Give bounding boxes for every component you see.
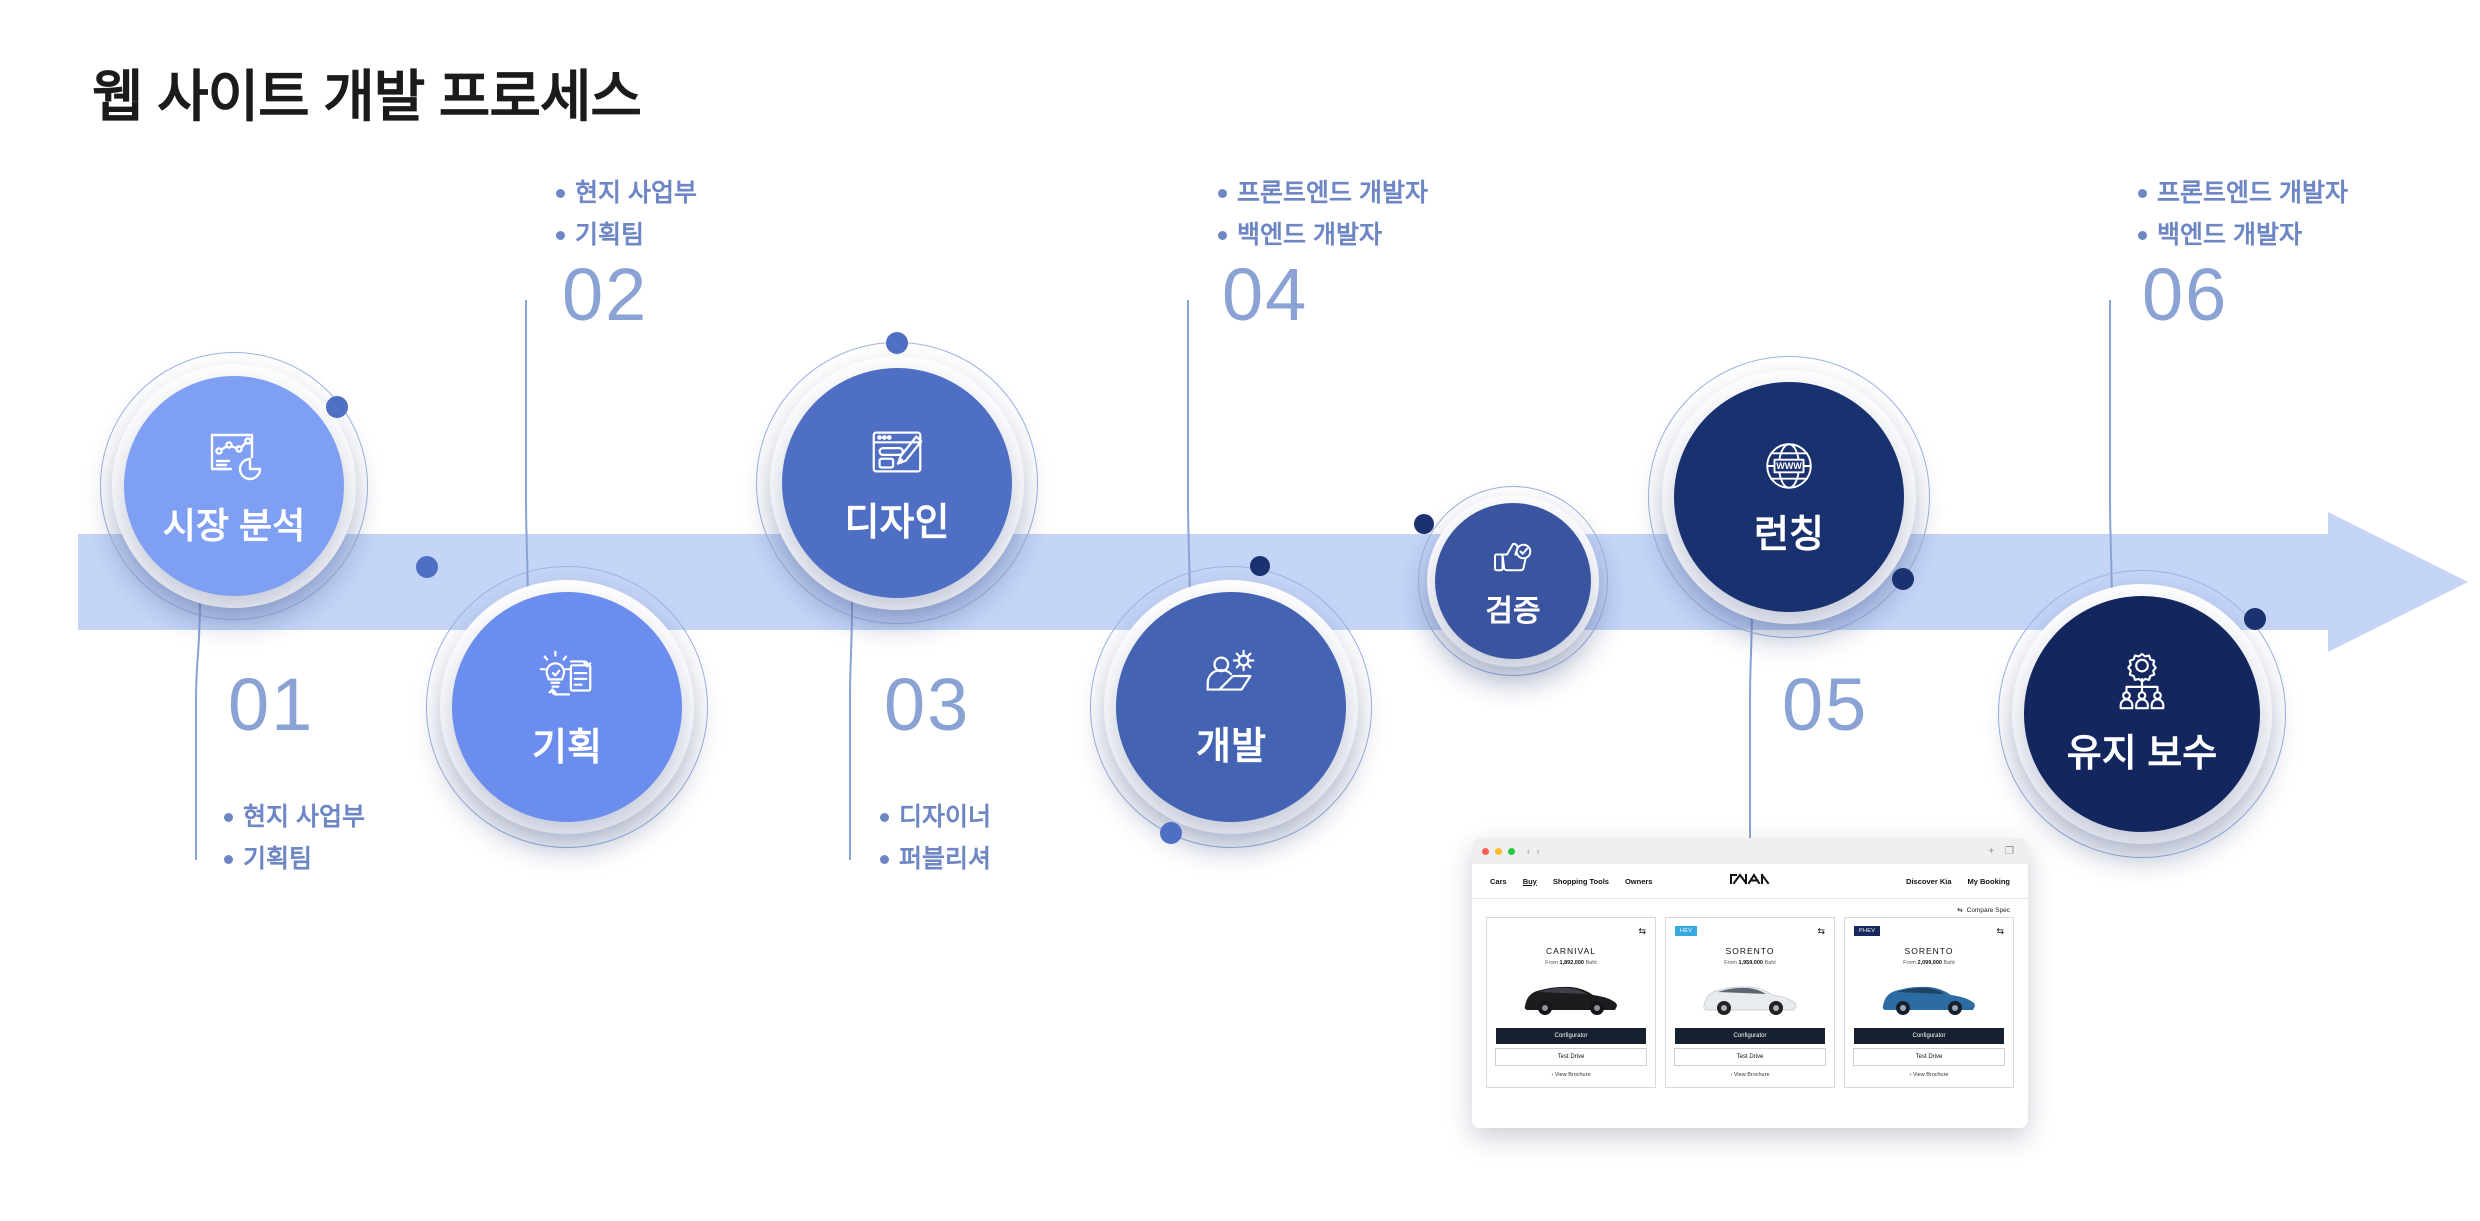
bullet-dot xyxy=(2138,189,2147,198)
step-node-5[interactable]: WWW 런칭 xyxy=(1648,356,1930,638)
nav-link-owners[interactable]: Owners xyxy=(1625,877,1653,886)
step-label-4: 개발 xyxy=(1196,715,1266,770)
step-bullets-1: 현지 사업부 기획팀 xyxy=(224,800,365,876)
step-disc-6[interactable]: 유지 보수 xyxy=(2024,596,2260,832)
minimize-icon[interactable] xyxy=(1495,848,1502,855)
vehicle-card-list: ⇆ CARNIVAL From 1,892,000 Baht Configura… xyxy=(1472,917,2028,1088)
nav-link-discover-kia[interactable]: Discover Kia xyxy=(1906,877,1951,886)
compare-toggle-icon[interactable]: ⇆ xyxy=(1996,926,2004,937)
bullet-item: 퍼블리셔 xyxy=(880,842,991,876)
bullet-text: 현지 사업부 xyxy=(243,800,365,834)
step-number-2: 02 xyxy=(562,258,648,332)
bullet-text: 프론트엔드 개발자 xyxy=(2157,176,2348,210)
vehicle-image xyxy=(1696,972,1804,1021)
configurator-button[interactable]: Configurator xyxy=(1675,1028,1825,1044)
test-drive-button[interactable]: Test Drive xyxy=(1853,1048,2005,1066)
bullet-item: 백엔드 개발자 xyxy=(2138,218,2348,252)
step-disc-4[interactable]: 개발 xyxy=(1116,592,1346,822)
bullet-dot xyxy=(224,813,233,822)
nav-link-shopping-tools[interactable]: Shopping Tools xyxy=(1553,877,1609,886)
step-node-3[interactable]: 디자인 xyxy=(756,342,1038,624)
bullet-text: 백엔드 개발자 xyxy=(2157,218,2302,252)
price-prefix: From xyxy=(1903,960,1916,966)
developer-gear-icon xyxy=(1200,645,1262,707)
step-dot-4b xyxy=(1160,822,1182,844)
market-analysis-icon xyxy=(202,423,266,487)
planning-idea-icon xyxy=(536,644,598,706)
compare-toggle-icon[interactable]: ⇆ xyxy=(1817,926,1825,937)
verification-disc[interactable]: 검증 xyxy=(1435,503,1591,659)
vehicle-price: From 1,959,000 Baht xyxy=(1724,960,1776,966)
step-number-1: 01 xyxy=(228,668,314,742)
vehicle-price: From 1,892,000 Baht xyxy=(1545,960,1597,966)
bullet-item: 기획팀 xyxy=(556,218,697,252)
step-label-1: 시장 분석 xyxy=(163,497,305,549)
browser-mockup[interactable]: ‹ › + ❐ Cars Buy Shopping Tools Owners D… xyxy=(1472,838,2028,1128)
step-bullets-4: 프론트엔드 개발자 백엔드 개발자 xyxy=(1218,176,1428,252)
bullet-dot xyxy=(1218,189,1227,198)
card-header: PHEV ⇆ xyxy=(1854,925,2004,937)
step-disc-5[interactable]: WWW 런칭 xyxy=(1674,382,1904,612)
bullet-item: 현지 사업부 xyxy=(224,800,365,834)
price-suffix: Baht xyxy=(1765,960,1776,966)
view-brochure-link[interactable]: › View Brochure xyxy=(1730,1072,1769,1078)
step-bullets-3: 디자이너 퍼블리셔 xyxy=(880,800,991,876)
bullet-text: 기획팀 xyxy=(575,218,644,252)
bullet-text: 현지 사업부 xyxy=(575,176,697,210)
nav-link-my-booking[interactable]: My Booking xyxy=(1968,877,2011,886)
bullet-text: 기획팀 xyxy=(243,842,312,876)
step-node-6[interactable]: 유지 보수 xyxy=(1998,570,2286,858)
compare-icon: ⇆ xyxy=(1957,906,1962,914)
price-suffix: Baht xyxy=(1944,960,1955,966)
step-dot-2 xyxy=(416,556,438,578)
bullet-text: 디자이너 xyxy=(899,800,991,834)
test-drive-button[interactable]: Test Drive xyxy=(1495,1048,1647,1066)
bullet-item: 현지 사업부 xyxy=(556,176,697,210)
card-header: HEV ⇆ xyxy=(1675,925,1825,937)
compare-spec-button[interactable]: ⇆ Compare Spec xyxy=(1472,899,2028,917)
step-number-3: 03 xyxy=(884,668,970,742)
bullet-dot xyxy=(556,189,565,198)
card-header: ⇆ xyxy=(1496,925,1646,937)
bullet-item: 프론트엔드 개발자 xyxy=(2138,176,2348,210)
vehicle-price: From 2,099,000 Baht xyxy=(1903,960,1955,966)
test-drive-button[interactable]: Test Drive xyxy=(1674,1048,1826,1066)
close-icon[interactable] xyxy=(1482,848,1489,855)
configurator-button[interactable]: Configurator xyxy=(1854,1028,2004,1044)
step-node-1[interactable]: 시장 분석 xyxy=(100,352,368,620)
step-dot-3 xyxy=(886,332,908,354)
bullet-dot xyxy=(880,855,889,864)
maintenance-team-icon xyxy=(2111,652,2173,714)
step-disc-2[interactable]: 기획 xyxy=(452,592,682,822)
thumbs-up-check-icon xyxy=(1489,532,1537,580)
step-dot-1 xyxy=(326,396,348,418)
view-brochure-link[interactable]: › View Brochure xyxy=(1909,1072,1948,1078)
step-label-6: 유지 보수 xyxy=(2067,722,2217,777)
vehicle-image xyxy=(1875,972,1983,1021)
price-value: 1,959,000 xyxy=(1739,960,1763,966)
vehicle-name: SORENTO xyxy=(1726,946,1775,956)
view-brochure-label: View Brochure xyxy=(1555,1072,1591,1078)
bullet-dot xyxy=(2138,231,2147,240)
step-number-5: 05 xyxy=(1782,668,1868,742)
bullet-dot xyxy=(880,813,889,822)
price-prefix: From xyxy=(1724,960,1737,966)
step-number-6: 06 xyxy=(2142,258,2228,332)
step-label-3: 디자인 xyxy=(845,491,950,546)
step-disc-3[interactable]: 디자인 xyxy=(782,368,1012,598)
step-dot-6 xyxy=(2244,608,2266,630)
svg-text:WWW: WWW xyxy=(1776,461,1802,471)
bullet-item: 기획팀 xyxy=(224,842,365,876)
bullet-text: 프론트엔드 개발자 xyxy=(1237,176,1428,210)
design-brush-icon xyxy=(866,421,928,483)
vehicle-card[interactable]: HEV ⇆ SORENTO From 1,959,000 Baht Config… xyxy=(1665,917,1835,1088)
compare-spec-label: Compare Spec xyxy=(1967,907,2010,914)
view-brochure-link[interactable]: › View Brochure xyxy=(1551,1072,1590,1078)
kia-logo-icon[interactable] xyxy=(1729,872,1771,890)
nav-right-group: Discover Kia My Booking xyxy=(1906,877,2010,886)
price-prefix: From xyxy=(1545,960,1558,966)
vehicle-name: SORENTO xyxy=(1905,946,1954,956)
nav-link-cars[interactable]: Cars xyxy=(1490,877,1507,886)
step-number-4: 04 xyxy=(1222,258,1308,332)
step-node-verification[interactable]: 검증 xyxy=(1418,486,1608,676)
back-forward-icons[interactable]: ‹ › xyxy=(1527,846,1542,856)
page-title: 웹 사이트 개발 프로세스 xyxy=(92,52,641,133)
bullet-item: 프론트엔드 개발자 xyxy=(1218,176,1428,210)
configurator-button[interactable]: Configurator xyxy=(1496,1028,1646,1044)
bullet-dot xyxy=(224,855,233,864)
step-label-2: 기획 xyxy=(532,716,602,771)
bullet-dot xyxy=(1218,231,1227,240)
powertrain-badge: HEV xyxy=(1675,926,1697,936)
step-node-4[interactable]: 개발 xyxy=(1090,566,1372,848)
site-navbar: Cars Buy Shopping Tools Owners Discover … xyxy=(1472,864,2028,899)
browser-titlebar: ‹ › + ❐ xyxy=(1472,838,2028,864)
view-brochure-label: View Brochure xyxy=(1913,1072,1949,1078)
compare-toggle-icon[interactable]: ⇆ xyxy=(1638,926,1646,937)
new-tab-and-tabs-icons[interactable]: + ❐ xyxy=(1988,846,2018,857)
vehicle-name: CARNIVAL xyxy=(1546,946,1596,956)
step-bullets-6: 프론트엔드 개발자 백엔드 개발자 xyxy=(2138,176,2348,252)
vehicle-image xyxy=(1517,972,1625,1021)
step-label-5: 런칭 xyxy=(1754,503,1824,558)
verification-dot xyxy=(1414,514,1434,534)
vehicle-card[interactable]: ⇆ CARNIVAL From 1,892,000 Baht Configura… xyxy=(1486,917,1656,1088)
bullet-item: 디자이너 xyxy=(880,800,991,834)
bullet-dot xyxy=(556,231,565,240)
powertrain-badge: PHEV xyxy=(1854,926,1880,936)
step-dot-4 xyxy=(1250,556,1270,576)
bullet-item: 백엔드 개발자 xyxy=(1218,218,1428,252)
price-value: 2,099,000 xyxy=(1918,960,1942,966)
bullet-text: 퍼블리셔 xyxy=(899,842,991,876)
step-dot-5 xyxy=(1892,568,1914,590)
price-suffix: Baht xyxy=(1586,960,1597,966)
step-bullets-2: 현지 사업부 기획팀 xyxy=(556,176,697,252)
maximize-icon[interactable] xyxy=(1508,848,1515,855)
nav-link-buy[interactable]: Buy xyxy=(1523,877,1537,886)
globe-www-icon: WWW xyxy=(1760,437,1818,495)
step-disc-1[interactable]: 시장 분석 xyxy=(124,376,344,596)
vehicle-card[interactable]: PHEV ⇆ SORENTO From 2,099,000 Baht Confi… xyxy=(1844,917,2014,1088)
bullet-text: 백엔드 개발자 xyxy=(1237,218,1382,252)
price-value: 1,892,000 xyxy=(1560,960,1584,966)
view-brochure-label: View Brochure xyxy=(1734,1072,1770,1078)
step-node-2[interactable]: 기획 xyxy=(426,566,708,848)
verification-label: 검증 xyxy=(1485,586,1540,630)
